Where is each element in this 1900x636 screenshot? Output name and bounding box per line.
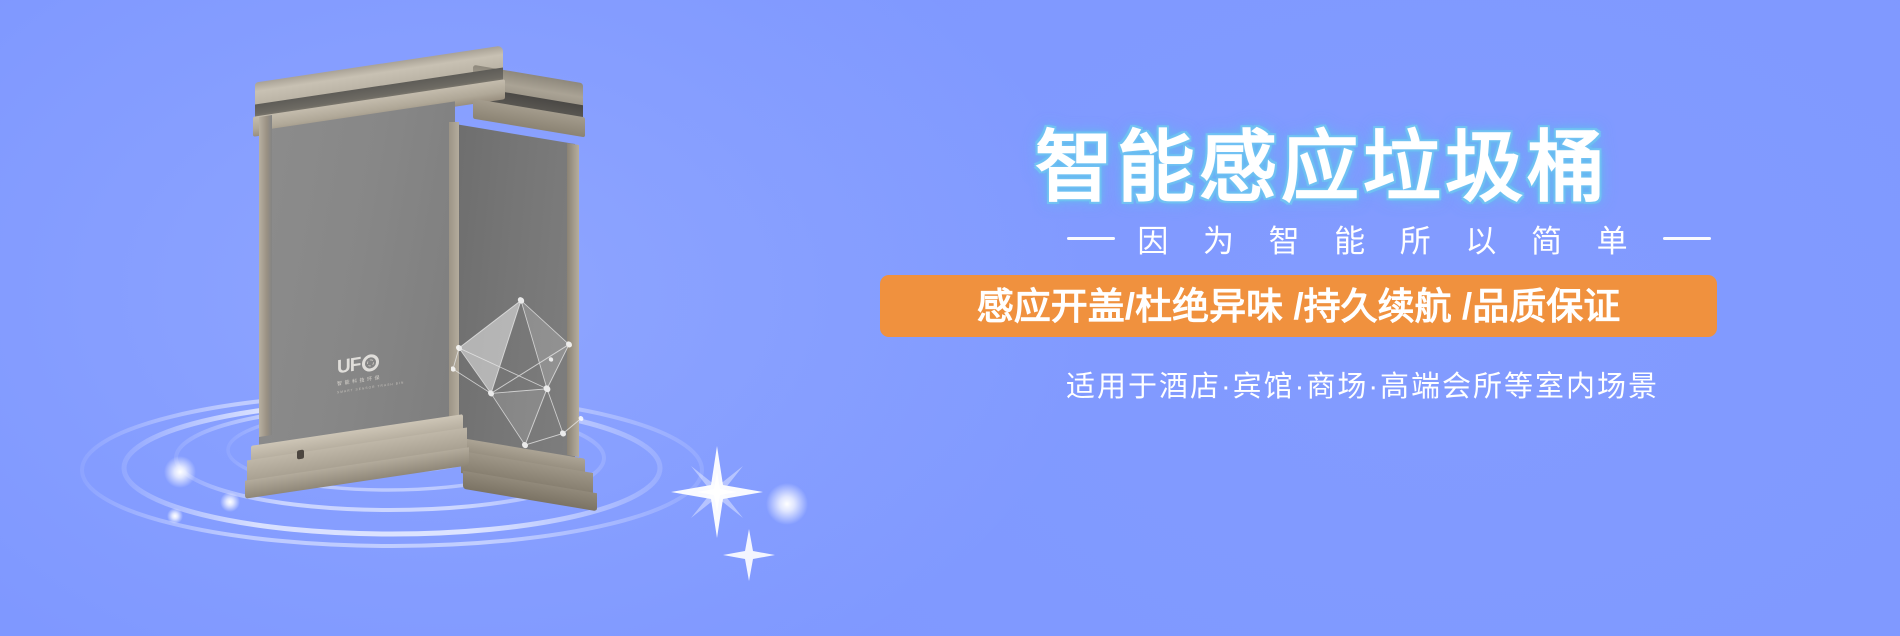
sparkle-star-2 <box>723 529 775 581</box>
glow-orb-4 <box>766 483 808 525</box>
marketing-copy: 智能感应垃圾桶 因 为 智 能 所 以 简 单 感应开盖/杜绝异味 /持久续航 … <box>860 0 1900 636</box>
left-rule-divider <box>1067 237 1115 240</box>
page-title: 智能感应垃圾桶 <box>1035 128 1609 206</box>
usage-scenario-row: 适用于酒店·宾馆·商场·高端会所等室内场景 <box>860 363 1900 405</box>
glow-orb-3 <box>167 508 183 524</box>
trash-can-product: UF 智能科技环保 SMART SENSOR TRASH BIN <box>245 58 605 478</box>
brand-wordmark: UF <box>337 355 360 377</box>
feature-highlight-bar: 感应开盖/杜绝异味 /持久续航 /品质保证 <box>880 275 1717 337</box>
subtitle-text: 因 为 智 能 所 以 简 单 <box>1137 216 1640 261</box>
glow-orb-1 <box>164 456 196 488</box>
usage-scenario-text: 适用于酒店·宾馆·商场·高端会所等室内场景 <box>1066 371 1659 403</box>
glow-orb-2 <box>220 492 240 512</box>
polygon-network-graphic <box>451 247 586 470</box>
sparkle-star-1 <box>671 446 763 538</box>
feature-highlight-text: 感应开盖/杜绝异味 /持久续航 /品质保证 <box>977 288 1620 325</box>
subtitle-row: 因 为 智 能 所 以 简 单 <box>860 216 1900 261</box>
body-left-trim <box>259 115 272 437</box>
right-rule-divider <box>1663 237 1711 240</box>
product-stage: UF 智能科技环保 SMART SENSOR TRASH BIN <box>0 0 860 636</box>
o-ring-icon <box>362 353 379 373</box>
promo-banner: UF 智能科技环保 SMART SENSOR TRASH BIN 智能感应垃圾桶… <box>0 0 1900 636</box>
base-lock-keyhole <box>297 449 304 459</box>
